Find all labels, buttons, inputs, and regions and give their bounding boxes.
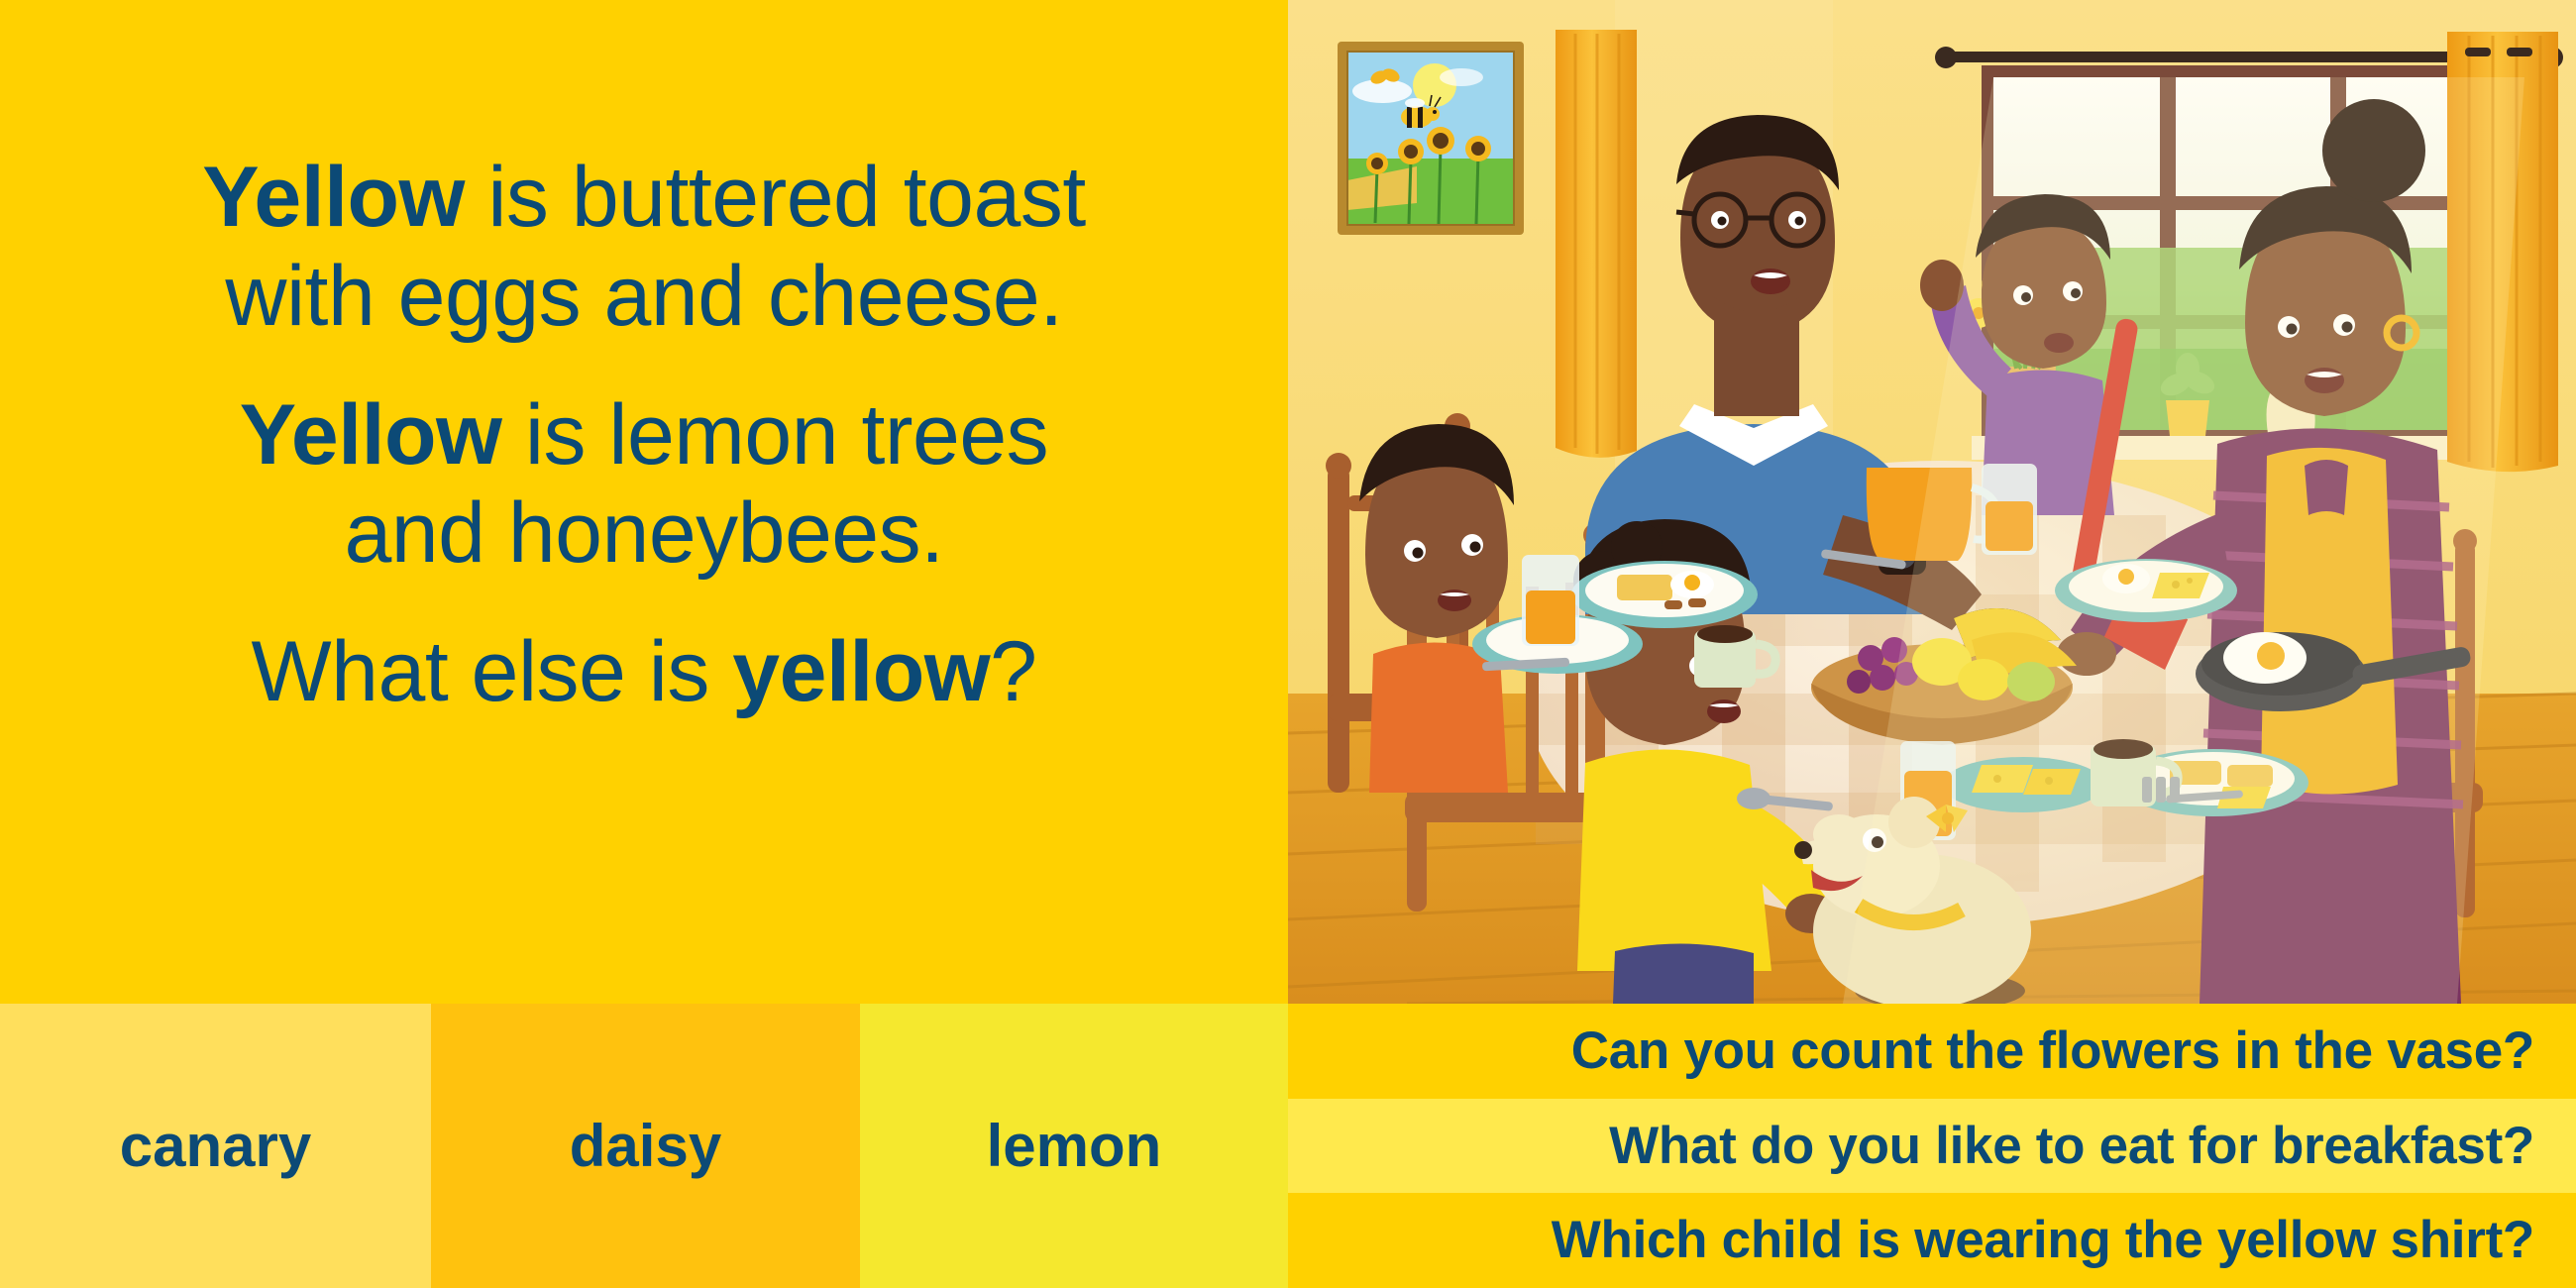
verse-keyword: Yellow: [202, 150, 465, 245]
verse-panel: Yellow is buttered toastwith eggs and ch…: [0, 0, 1288, 1004]
verse-run: and honeybees.: [344, 485, 943, 581]
verse-run: is lemon trees: [501, 387, 1048, 483]
question-text-2: What do you like to eat for breakfast?: [1609, 1116, 2534, 1176]
verse-line: with eggs and cheese.: [0, 248, 1288, 347]
color-swatch-strip: canary daisy lemon: [0, 1004, 1288, 1288]
verse-stanza: Yellow is lemon treesand honeybees.: [0, 386, 1288, 585]
question-text-1: Can you count the flowers in the vase?: [1571, 1020, 2534, 1081]
boy-orange-shirt-character: [1359, 424, 1514, 793]
verse-run: What else is: [252, 624, 733, 719]
question-text-3: Which child is wearing the yellow shirt?: [1552, 1210, 2534, 1270]
verse-run: with eggs and cheese.: [225, 249, 1062, 344]
curtain-left: [1556, 30, 1637, 458]
framed-bee-picture: [1338, 42, 1524, 235]
plate-top-left: [1571, 561, 1758, 628]
verse-text: Yellow is buttered toastwith eggs and ch…: [0, 149, 1288, 722]
breakfast-scene-illustration: [1288, 0, 2576, 1004]
dog-nose: [1794, 841, 1812, 859]
question-band-3: Which child is wearing the yellow shirt?: [1288, 1193, 2576, 1288]
verse-run: is buttered toast: [465, 150, 1086, 245]
verse-line: and honeybees.: [0, 484, 1288, 584]
question-bands: Can you count the flowers in the vase? W…: [1288, 1004, 2576, 1288]
verse-run: ?: [990, 624, 1036, 719]
verse-stanza: What else is yellow?: [0, 623, 1288, 722]
illustration-svg: [1288, 0, 2576, 1004]
verse-stanza: Yellow is buttered toastwith eggs and ch…: [0, 149, 1288, 347]
juice-glass-left: [1522, 555, 1579, 646]
verse-line: What else is yellow?: [0, 623, 1288, 722]
picture-book-spread: Yellow is buttered toastwith eggs and ch…: [0, 0, 2576, 1288]
swatch-label-daisy: daisy: [570, 1112, 721, 1180]
verse-line: Yellow is buttered toast: [0, 149, 1288, 248]
verse-keyword: Yellow: [240, 387, 502, 483]
question-band-2: What do you like to eat for breakfast?: [1288, 1099, 2576, 1194]
swatch-canary[interactable]: canary: [0, 1004, 431, 1288]
question-band-1: Can you count the flowers in the vase?: [1288, 1004, 2576, 1099]
verse-keyword: yellow: [732, 624, 990, 719]
swatch-label-lemon: lemon: [987, 1112, 1162, 1180]
verse-line: Yellow is lemon trees: [0, 386, 1288, 485]
swatch-label-canary: canary: [120, 1112, 311, 1180]
swatch-lemon[interactable]: lemon: [860, 1004, 1288, 1288]
swatch-daisy[interactable]: daisy: [431, 1004, 860, 1288]
